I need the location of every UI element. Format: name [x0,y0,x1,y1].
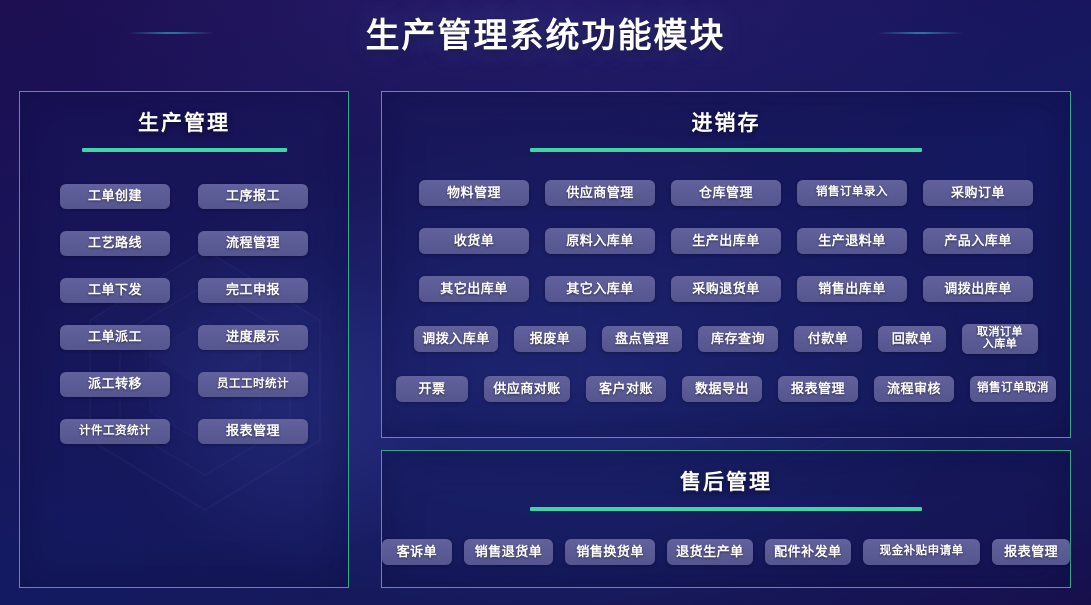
module-button[interactable]: 员工工时统计 [198,372,308,397]
button-grid-inventory: 物料管理供应商管理仓库管理销售订单录入采购订单收货单原料入库单生产出库单生产退料… [382,180,1070,424]
panel-title-production: 生产管理 [20,113,348,134]
module-button[interactable]: 仓库管理 [671,180,781,206]
module-button[interactable]: 报表管理 [992,539,1070,565]
module-button[interactable]: 库存查询 [698,326,778,352]
page-title: 生产管理系统功能模块 [366,19,726,53]
module-button[interactable]: 退货生产单 [667,539,753,565]
module-button[interactable]: 供应商管理 [545,180,655,206]
module-button[interactable]: 工艺路线 [60,231,170,256]
button-row: 派工转移员工工时统计 [20,372,348,397]
module-button[interactable]: 销售订单取消 [970,376,1056,402]
module-button[interactable]: 其它入库单 [545,276,655,302]
button-row: 计件工资统计报表管理 [20,419,348,444]
module-button[interactable]: 流程审核 [874,376,954,402]
module-button[interactable]: 供应商对账 [484,376,570,402]
button-grid-aftersales: 客诉单销售退货单销售换货单退货生产单配件补发单现金补贴申请单报表管理 [382,539,1070,565]
module-button[interactable]: 配件补发单 [765,539,851,565]
button-row: 工单创建工序报工 [20,184,348,209]
panel-title-inventory: 进销存 [382,113,1070,134]
module-button[interactable]: 原料入库单 [545,228,655,254]
button-row: 客诉单销售退货单销售换货单退货生产单配件补发单现金补贴申请单报表管理 [382,539,1070,565]
module-button[interactable]: 产品入库单 [923,228,1033,254]
module-button[interactable]: 调拨入库单 [414,326,498,352]
module-button[interactable]: 流程管理 [198,231,308,256]
module-button[interactable]: 回款单 [878,326,946,352]
module-button[interactable]: 生产退料单 [797,228,907,254]
panel-inventory: 进销存 物料管理供应商管理仓库管理销售订单录入采购订单收货单原料入库单生产出库单… [381,91,1071,438]
module-button[interactable]: 销售退货单 [464,539,554,565]
panel-underline-production [82,148,287,152]
panel-underline-inventory [530,148,922,152]
module-button[interactable]: 完工申报 [198,278,308,303]
module-button[interactable]: 调拨出库单 [923,276,1033,302]
module-button[interactable]: 报表管理 [198,419,308,444]
module-button[interactable]: 取消订单 入库单 [962,324,1038,354]
module-button[interactable]: 报表管理 [778,376,858,402]
module-button[interactable]: 其它出库单 [419,276,529,302]
module-button[interactable]: 进度展示 [198,325,308,350]
button-grid-production: 工单创建工序报工工艺路线流程管理工单下发完工申报工单派工进度展示派工转移员工工时… [20,184,348,466]
module-button[interactable]: 销售换货单 [565,539,655,565]
module-button[interactable]: 物料管理 [419,180,529,206]
panel-aftersales: 售后管理 客诉单销售退货单销售换货单退货生产单配件补发单现金补贴申请单报表管理 [381,450,1071,588]
module-button[interactable]: 开票 [396,376,468,402]
module-button[interactable]: 收货单 [419,228,529,254]
panel-title-aftersales: 售后管理 [382,472,1070,493]
module-button[interactable]: 客户对账 [586,376,666,402]
module-button[interactable]: 工单派工 [60,325,170,350]
button-row: 工单下发完工申报 [20,278,348,303]
module-button[interactable]: 现金补贴申请单 [863,539,980,565]
button-row: 工单派工进度展示 [20,325,348,350]
module-button[interactable]: 工单创建 [60,184,170,209]
module-button[interactable]: 派工转移 [60,372,170,397]
module-button[interactable]: 销售订单录入 [797,180,907,206]
module-button[interactable]: 计件工资统计 [60,419,170,444]
module-button[interactable]: 付款单 [794,326,862,352]
page-header: 生产管理系统功能模块 [0,0,1091,72]
module-button[interactable]: 工单下发 [60,278,170,303]
button-row: 工艺路线流程管理 [20,231,348,256]
title-rule-right [877,32,963,34]
module-button[interactable]: 生产出库单 [671,228,781,254]
button-row: 其它出库单其它入库单采购退货单销售出库单调拨出库单 [382,276,1070,302]
button-row: 收货单原料入库单生产出库单生产退料单产品入库单 [382,228,1070,254]
module-button[interactable]: 采购退货单 [671,276,781,302]
module-button[interactable]: 数据导出 [682,376,762,402]
module-button[interactable]: 采购订单 [923,180,1033,206]
module-button[interactable]: 报废单 [514,326,586,352]
button-row: 物料管理供应商管理仓库管理销售订单录入采购订单 [382,180,1070,206]
module-button[interactable]: 销售出库单 [797,276,907,302]
button-row: 开票供应商对账客户对账数据导出报表管理流程审核销售订单取消 [382,376,1070,402]
panel-production: 生产管理 工单创建工序报工工艺路线流程管理工单下发完工申报工单派工进度展示派工转… [19,91,349,588]
panel-underline-aftersales [530,507,922,511]
module-button[interactable]: 工序报工 [198,184,308,209]
module-button[interactable]: 客诉单 [382,539,452,565]
module-button[interactable]: 盘点管理 [602,326,682,352]
button-row: 调拨入库单报废单盘点管理库存查询付款单回款单取消订单 入库单 [382,324,1070,354]
title-rule-left [128,32,214,34]
